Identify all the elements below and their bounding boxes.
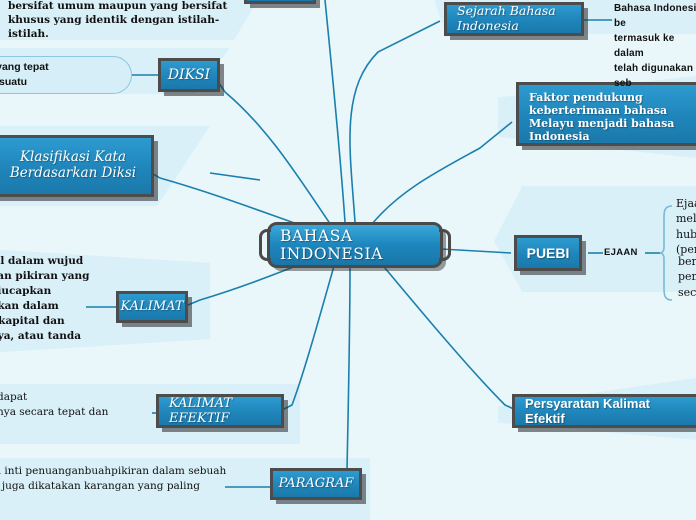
node-puebi-label: PUEBI: [527, 245, 570, 262]
node-persyaratan-label: Persyaratan Kalimat Efektif: [525, 396, 687, 427]
node-center-label: BAHASA INDONESIA: [280, 227, 430, 264]
node-paragraf-label: PARAGRAF: [279, 476, 354, 491]
center-right-cap: [439, 229, 451, 261]
edge-label-ejaan: EJAAN: [604, 247, 638, 258]
note-istilah: bersifat umum maupun yang bersifat khusu…: [8, 0, 258, 42]
note-ejaan-description-top: Ejaa mel hub (pen: [676, 196, 696, 258]
note-sejarah-description: Bahasa Indonesia be termasuk ke dalam te…: [614, 1, 696, 91]
node-kalimat-label: KALIMAT: [121, 299, 184, 314]
node-kalimat[interactable]: KALIMAT: [116, 291, 188, 323]
callout-diksi-description: lih kata yang tepat takan sesuatu: [0, 56, 132, 94]
node-paragraf[interactable]: PARAGRAF: [270, 468, 362, 500]
note-kalimat-description: cil dalam wujud kan pikiran yang diucapk…: [0, 254, 100, 343]
center-left-cap: [259, 229, 271, 261]
node-center-bahasa-indonesia[interactable]: BAHASA INDONESIA: [267, 222, 443, 268]
node-sejarah-bahasa-indonesia[interactable]: Sejarah Bahasa Indonesia: [444, 2, 584, 36]
node-klasifikasi-kata[interactable]: Klasifikasi Kata Berdasarkan Diksi: [0, 135, 154, 197]
node-persyaratan-kalimat-efektif[interactable]: Persyaratan Kalimat Efektif: [512, 394, 696, 428]
node-faktor-pendukung[interactable]: Faktor pendukung keberterimaan bahasa Me…: [516, 82, 696, 146]
note-kalimat-efektif-description: yang dapat nakainya secara tepat dan ca: [0, 390, 158, 434]
note-ejaan-description-bottom: beri pem seca: [678, 254, 696, 300]
node-kalimat-efektif-label: KALIMAT EFEKTIF: [169, 396, 271, 427]
node-diksi[interactable]: DIKSI: [158, 58, 220, 92]
note-paragraf-description: an inti penuanganbuahpikiran dalam sebua…: [0, 464, 228, 508]
node-klasifikasi-label: Klasifikasi Kata Berdasarkan Diksi: [10, 150, 136, 182]
node-kalimat-efektif[interactable]: KALIMAT EFEKTIF: [156, 394, 284, 428]
node-faktor-label: Faktor pendukung keberterimaan bahasa Me…: [529, 92, 689, 144]
node-sejarah-label: Sejarah Bahasa Indonesia: [457, 4, 571, 34]
mindmap-canvas: Sejarah Bahasa Indonesia Faktor pendukun…: [0, 0, 696, 520]
node-diksi-label: DIKSI: [168, 67, 210, 84]
node-puebi[interactable]: PUEBI: [514, 235, 582, 271]
